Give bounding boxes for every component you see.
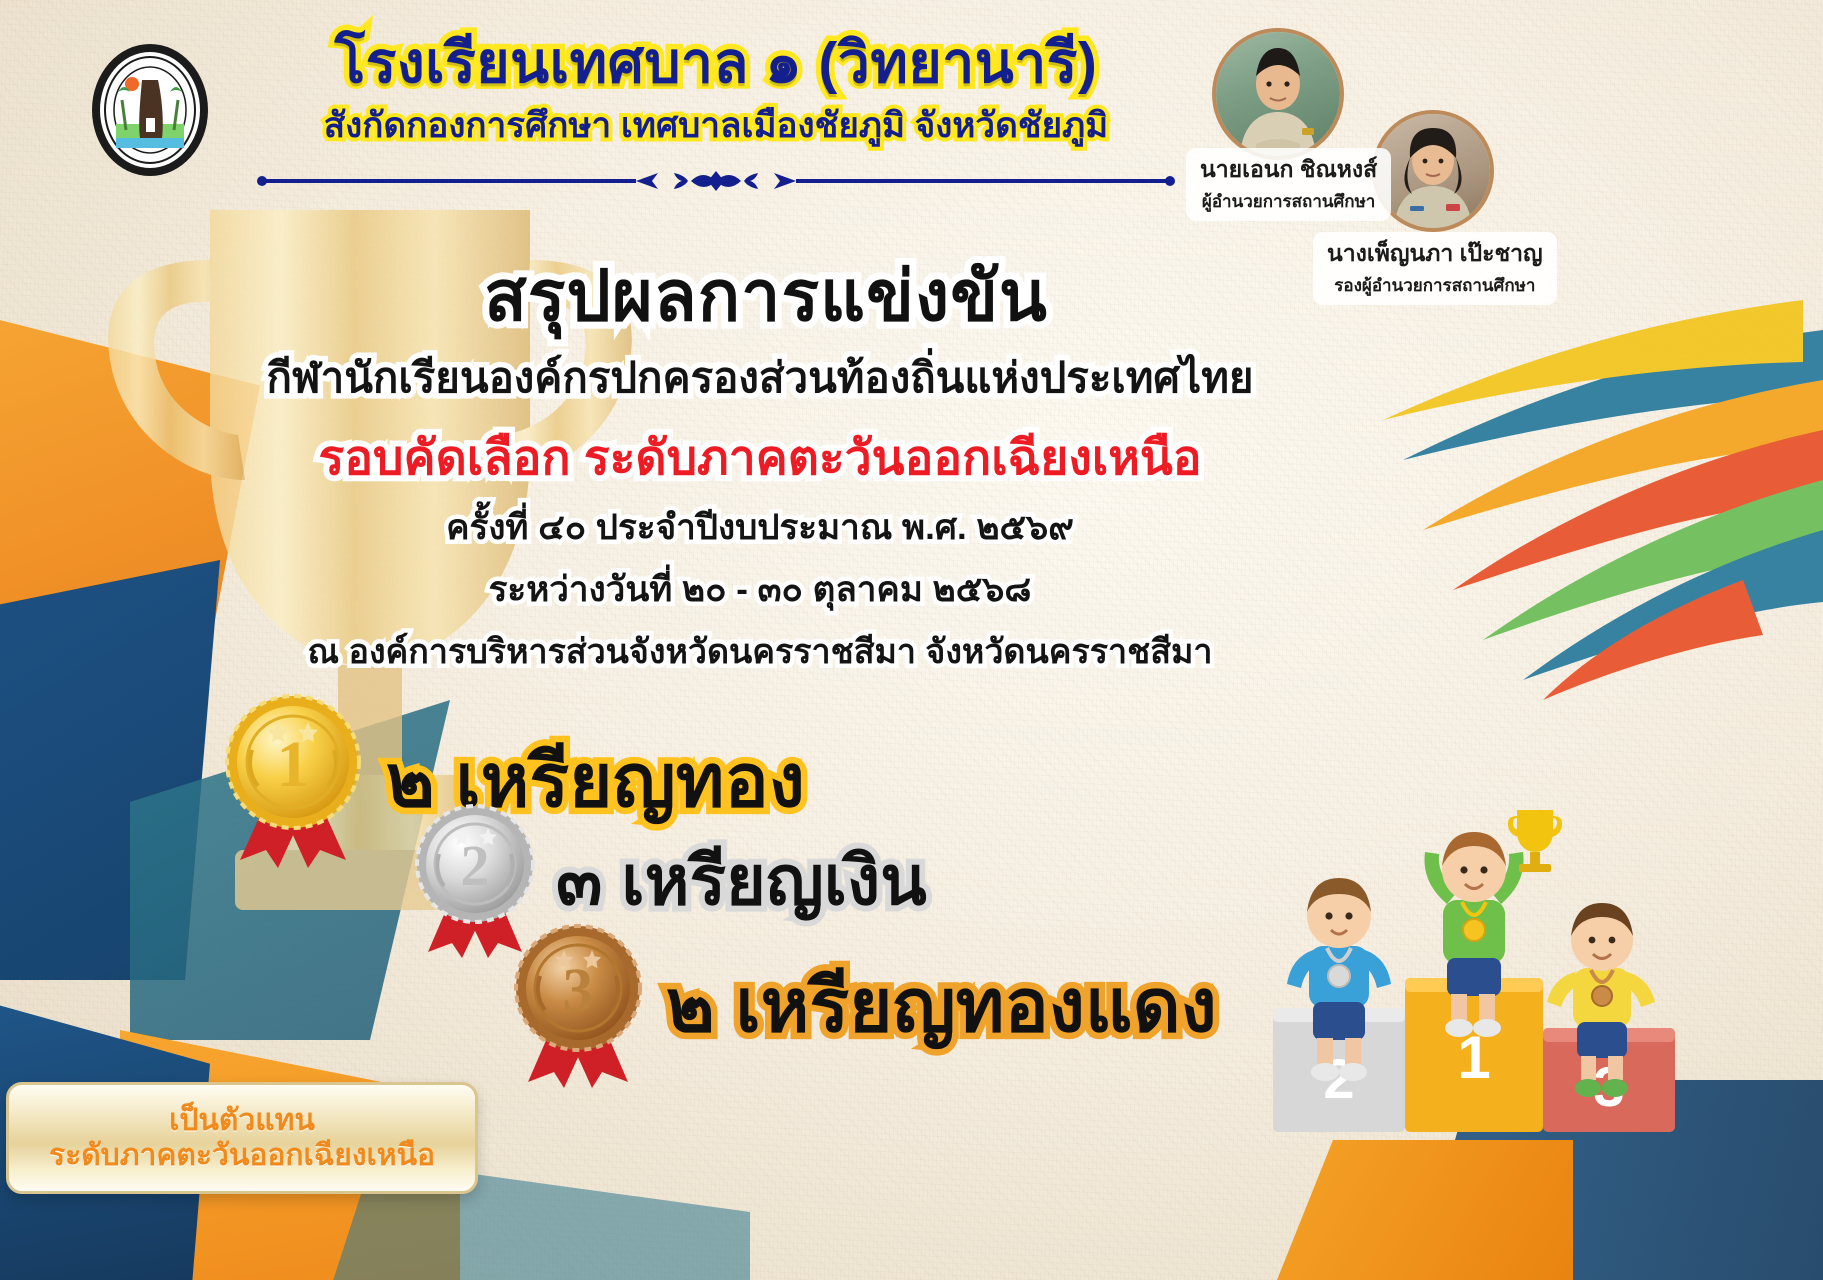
director-figure-icon bbox=[1216, 32, 1340, 156]
deputy-caption: นางเพ็ญนภา เป๊ะชาญ รองผู้อำนวยการสถานศึก… bbox=[1313, 232, 1557, 305]
silver-result-text: ๓ เหรียญเงิน bbox=[556, 826, 927, 934]
gold-medal-graphic: 1 bbox=[218, 690, 368, 870]
podium-kids-illustration: 2 1 3 bbox=[1243, 750, 1803, 1170]
badge-line-1: เป็นตัวแทน bbox=[169, 1103, 315, 1138]
venue-line: ณ องค์การบริหารส่วนจังหวัดนครราชสีมา จัง… bbox=[180, 624, 1340, 678]
result-row-bronze: 3 ๒ เหรียญทองแดง bbox=[508, 920, 1217, 1090]
director-caption: นายเอนก ชิณหงส์ ผู้อำนวยการสถานศึกษา bbox=[1186, 148, 1391, 221]
header-title-block: โรงเรียนเทศบาล ๑ (วิทยานารี) สังกัดกองกา… bbox=[236, 34, 1196, 153]
director-name: นายเอนก ชิณหงส์ bbox=[1200, 152, 1377, 188]
bronze-result-text: ๒ เหรียญทองแดง bbox=[666, 946, 1217, 1064]
ornamental-divider bbox=[236, 168, 1196, 194]
school-name: โรงเรียนเทศบาล ๑ (วิทยานารี) bbox=[236, 34, 1196, 92]
deputy-role: รองผู้อำนวยการสถานศึกษา bbox=[1327, 272, 1543, 299]
games-name-line: กีฬานักเรียนองค์กรปกครองส่วนท้องถิ่นแห่ง… bbox=[180, 345, 1340, 411]
deputy-figure-icon bbox=[1376, 114, 1490, 228]
poster-canvas: โรงเรียนเทศบาล ๑ (วิทยานารี) สังกัดกองกา… bbox=[0, 0, 1823, 1280]
page-title: สรุปผลการแข่งขัน bbox=[236, 240, 1296, 351]
deputy-name: นางเพ็ญนภา เป๊ะชาญ bbox=[1327, 236, 1543, 272]
bronze-medal-graphic: 3 bbox=[508, 920, 648, 1090]
edition-year-line: ครั้งที่ ๔๐ ประจำปีงบประมาณ พ.ศ. ๒๕๖๙ bbox=[180, 500, 1340, 555]
school-seal-logo bbox=[88, 40, 212, 180]
portrait-photo-director bbox=[1212, 28, 1344, 160]
svg-text:3: 3 bbox=[563, 957, 594, 1025]
school-seal-logo-icon bbox=[88, 40, 212, 180]
director-role: ผู้อำนวยการสถานศึกษา bbox=[1200, 188, 1377, 215]
date-range-line: ระหว่างวันที่ ๒๐ - ๓๐ ตุลาคม ๒๕๖๘ bbox=[180, 562, 1340, 617]
representative-badge: เป็นตัวแทน ระดับภาคตะวันออกเฉียงเหนือ bbox=[6, 1082, 478, 1194]
badge-text: เป็นตัวแทน ระดับภาคตะวันออกเฉียงเหนือ bbox=[6, 1082, 478, 1194]
bronze-medal-icon: 3 bbox=[508, 920, 648, 1090]
ornamental-divider-icon bbox=[236, 168, 1196, 194]
podium-kids-icon: 2 1 3 bbox=[1243, 750, 1803, 1170]
school-department: สังกัดกองการศึกษา เทศบาลเมืองชัยภูมิ จัง… bbox=[236, 98, 1196, 153]
gold-medal-icon: 1 bbox=[218, 690, 368, 870]
badge-line-2: ระดับภาคตะวันออกเฉียงเหนือ bbox=[49, 1138, 435, 1173]
region-round-line: รอบคัดเลือก ระดับภาคตะวันออกเฉียงเหนือ bbox=[180, 420, 1340, 496]
